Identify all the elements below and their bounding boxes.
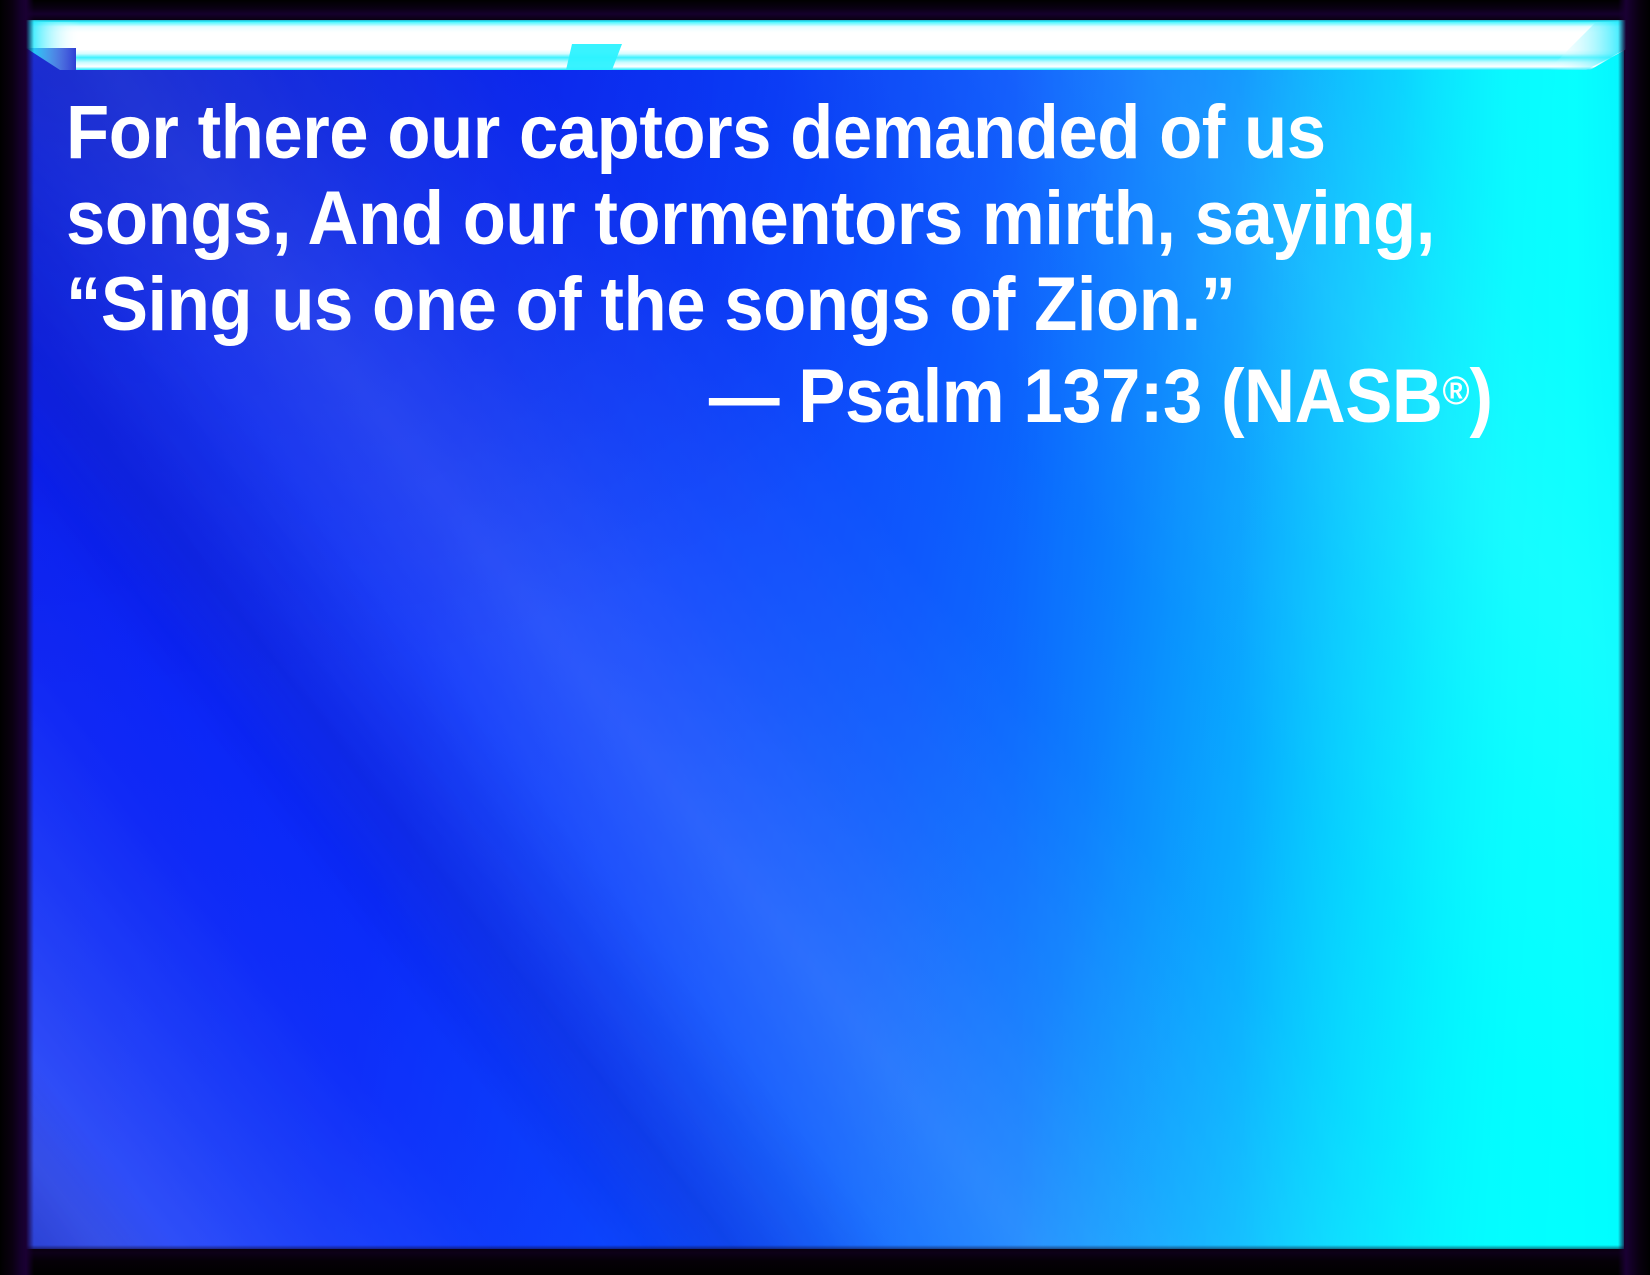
- verse-line-1: For there our captors demanded of us: [66, 90, 1502, 176]
- verse-line-2: songs, And our tormentors mirth, saying,: [66, 176, 1502, 262]
- attribution-prefix: — Psalm 137:3 (NASB: [709, 354, 1443, 439]
- verse-slide: For there our captors demanded of us son…: [0, 0, 1650, 1275]
- verse-line-3: “Sing us one of the songs of Zion.”: [66, 262, 1502, 348]
- verse-text-block: For there our captors demanded of us son…: [66, 90, 1502, 440]
- verse-attribution: — Psalm 137:3 (NASB®): [66, 348, 1502, 440]
- registered-trademark-icon: ®: [1442, 369, 1469, 413]
- attribution-suffix: ): [1470, 354, 1493, 439]
